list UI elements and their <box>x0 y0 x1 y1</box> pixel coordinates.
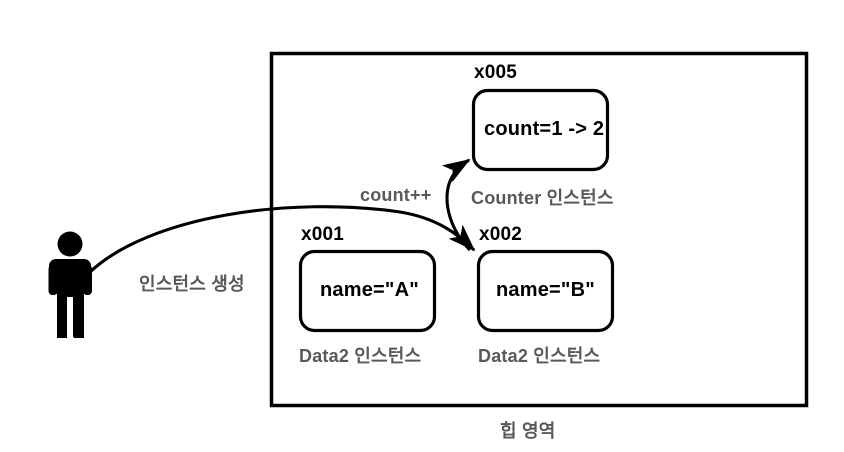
heap-region-label: 힙 영역 <box>500 417 555 443</box>
address-label-x005: x005 <box>474 62 517 84</box>
person-icon <box>49 232 93 339</box>
count-increment-arrow <box>447 160 470 250</box>
diagram-vector-layer <box>0 0 844 452</box>
type-label-data2-instance-b: Data2 인스턴스 <box>478 342 600 368</box>
address-label-x001: x001 <box>301 224 344 246</box>
address-label-x002: x002 <box>479 224 522 246</box>
object-value-x005: count=1 -> 2 <box>484 118 604 141</box>
object-value-x002: name="B" <box>496 279 595 302</box>
object-value-x001: name="A" <box>320 279 419 302</box>
arrow-label-count-increment: count++ <box>360 185 431 206</box>
arrow-label-create-instance: 인스턴스 생성 <box>139 270 245 296</box>
diagram-canvas: x005 x001 x002 count=1 -> 2 name="A" nam… <box>0 0 844 452</box>
type-label-data2-instance-a: Data2 인스턴스 <box>299 342 421 368</box>
type-label-counter-instance: Counter 인스턴스 <box>471 184 614 210</box>
